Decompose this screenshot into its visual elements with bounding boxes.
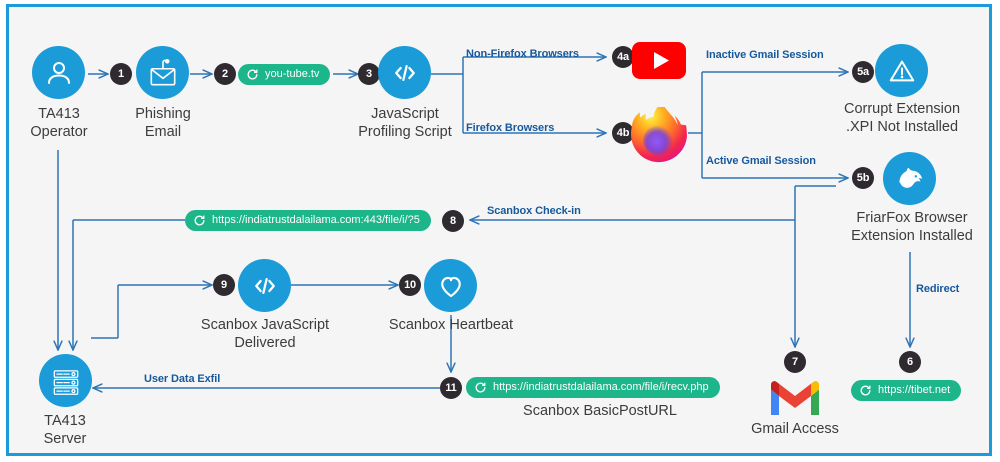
badge-step-8: 8: [442, 210, 464, 232]
caption-phishing-email: Phishing Email: [112, 105, 214, 141]
url-pill-scanbox-basicposturl[interactable]: https://indiatrustdalailama.com/file/i/r…: [466, 377, 720, 398]
badge-step-6: 6: [899, 351, 921, 373]
url-text: you-tube.tv: [265, 69, 319, 81]
caption-scanbox-heartbeat: Scanbox Heartbeat: [378, 316, 524, 334]
logo-firefox: [630, 108, 688, 166]
firefox-icon: [631, 107, 687, 168]
node-ta413-operator[interactable]: [32, 46, 85, 99]
badge-step-9: 9: [213, 274, 235, 296]
youtube-icon: [631, 41, 687, 85]
caption-friarfox-extension: FriarFox Browser Extension Installed: [828, 209, 996, 245]
server-icon: [49, 364, 83, 398]
badge-step-5b: 5b: [852, 167, 874, 189]
badge-step-10: 10: [399, 274, 421, 296]
badge-step-1: 1: [110, 63, 132, 85]
node-scanbox-javascript-delivered[interactable]: [238, 259, 291, 312]
edge-label-scanbox-checkin: Scanbox Check-in: [487, 205, 581, 217]
url-pill-tibet[interactable]: https://tibet.net: [851, 380, 961, 401]
caption-scanbox-javascript-delivered: Scanbox JavaScript Delivered: [190, 316, 340, 352]
refresh-url-icon: [859, 384, 872, 397]
fox-head-icon: [893, 162, 927, 196]
node-corrupt-extension[interactable]: [875, 44, 928, 97]
node-friarfox-extension[interactable]: [883, 152, 936, 205]
edge-label-inactive-gmail-session: Inactive Gmail Session: [706, 49, 824, 61]
heart-icon: [436, 271, 466, 301]
caption-ta413-server: TA413 Server: [14, 412, 116, 448]
logo-gmail: [766, 378, 824, 420]
url-text: https://tibet.net: [878, 385, 950, 397]
code-icon: [390, 58, 420, 88]
caption-ta413-operator: TA413 Operator: [8, 105, 110, 141]
warning-triangle-icon: [887, 56, 917, 86]
edge-label-non-firefox-browsers: Non-Firefox Browsers: [466, 48, 579, 60]
badge-step-5a: 5a: [852, 61, 874, 83]
url-text: https://indiatrustdalailama.com/file/i/r…: [493, 382, 709, 394]
node-ta413-server[interactable]: [39, 354, 92, 407]
envelope-hook-icon: [146, 56, 180, 90]
refresh-url-icon: [474, 381, 487, 394]
badge-step-3: 3: [358, 63, 380, 85]
node-scanbox-heartbeat[interactable]: [424, 259, 477, 312]
node-javascript-profiling-script[interactable]: [378, 46, 431, 99]
caption-gmail-access: Gmail Access: [725, 420, 865, 438]
edge-label-firefox-browsers: Firefox Browsers: [466, 122, 554, 134]
refresh-url-icon: [193, 214, 206, 227]
badge-step-11: 11: [440, 377, 462, 399]
gmail-icon: [767, 376, 823, 422]
url-text: https://indiatrustdalailama.com:443/file…: [212, 215, 420, 227]
caption-javascript-profiling-script: JavaScript Profiling Script: [334, 105, 476, 141]
logo-youtube: [630, 43, 688, 83]
caption-corrupt-extension: Corrupt Extension .XPI Not Installed: [820, 100, 984, 136]
node-phishing-email[interactable]: [136, 46, 189, 99]
code-icon: [250, 271, 280, 301]
url-pill-youtube-lure[interactable]: you-tube.tv: [238, 64, 330, 85]
edge-label-user-data-exfil: User Data Exfil: [144, 373, 220, 385]
url-pill-scanbox-checkin[interactable]: https://indiatrustdalailama.com:443/file…: [185, 210, 431, 231]
caption-scanbox-basicposturl: Scanbox BasicPostURL: [480, 402, 720, 420]
person-icon: [44, 58, 74, 88]
edge-label-redirect: Redirect: [916, 283, 959, 295]
badge-step-7: 7: [784, 351, 806, 373]
badge-step-2: 2: [214, 63, 236, 85]
edge-label-active-gmail-session: Active Gmail Session: [706, 155, 816, 167]
refresh-url-icon: [246, 68, 259, 81]
diagram-root: TA413 Operator 1 Phishing Email 2 you-tu…: [0, 0, 1000, 462]
